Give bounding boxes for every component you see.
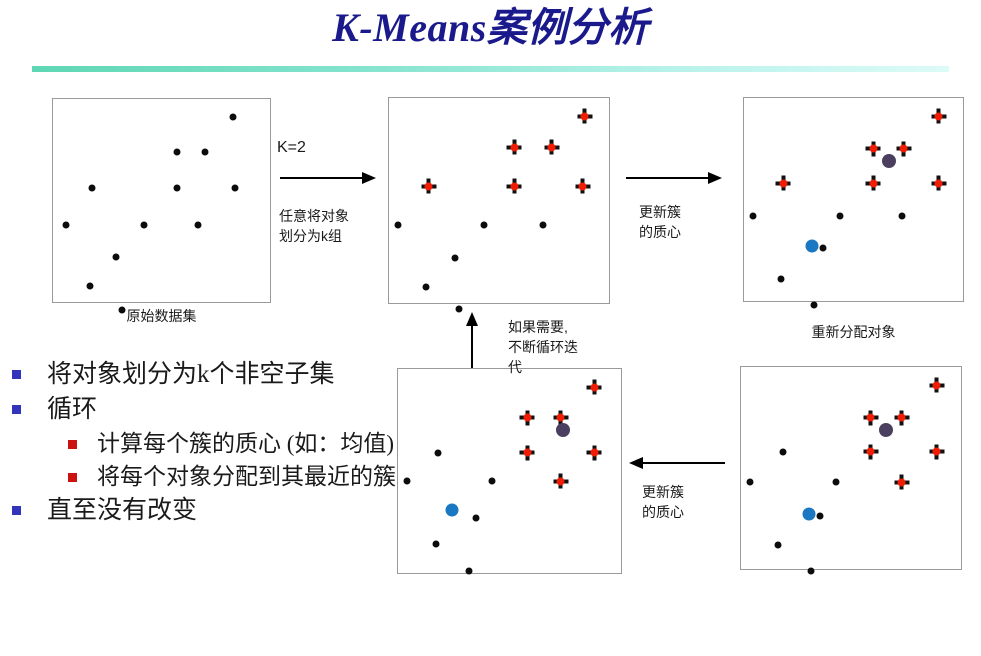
scatter-panel-update-centroids (743, 97, 964, 302)
cluster-cross-marker (929, 378, 944, 393)
arrow-right-step2 (626, 170, 722, 191)
cluster-cross-marker (421, 179, 436, 194)
page-title: K-Means案例分析 (0, 4, 981, 52)
data-point (89, 185, 96, 192)
cluster-cross-marker (507, 179, 522, 194)
cluster-cross-marker (896, 141, 911, 156)
data-point (480, 222, 487, 229)
cluster-cross-marker (587, 380, 602, 395)
data-point (423, 283, 430, 290)
data-point (432, 541, 439, 548)
data-point (452, 254, 459, 261)
bullet-item: 直至没有改变 (12, 494, 404, 527)
data-point (173, 185, 180, 192)
panel-3-caption: 重新分配对象 (743, 322, 964, 342)
bullet-text: 将对象划分为k个非空子集 (47, 358, 335, 391)
cluster-cross-marker (894, 410, 909, 425)
cluster-cross-marker (575, 179, 590, 194)
centroid-blue (803, 508, 816, 521)
step2-description: 更新簇 的质心 (639, 202, 739, 242)
data-point (749, 212, 756, 219)
title-divider (32, 66, 949, 72)
data-point (86, 282, 93, 289)
bullet-sub-item: 将每个对象分配到其最近的簇 (12, 461, 404, 492)
step3-description: 更新簇 的质心 (642, 482, 742, 522)
data-point (435, 449, 442, 456)
bullet-text: 将每个对象分配到其最近的簇 (97, 461, 396, 492)
bullet-square-icon (68, 473, 77, 482)
data-point (112, 254, 119, 261)
data-point (898, 212, 905, 219)
centroid-blue (805, 240, 818, 253)
data-point (473, 514, 480, 521)
cluster-cross-marker (929, 444, 944, 459)
data-point (201, 148, 208, 155)
data-point (808, 568, 815, 575)
cluster-cross-marker (507, 140, 522, 155)
data-point (232, 185, 239, 192)
data-point (540, 222, 547, 229)
data-point (456, 306, 463, 313)
k-value-label: K=2 (277, 138, 306, 158)
step1-description: 任意将对象 划分为k组 (279, 206, 389, 246)
scatter-panel-original (52, 98, 271, 303)
cluster-cross-marker (520, 410, 535, 425)
panel-1-caption: 原始数据集 (52, 306, 271, 326)
cluster-cross-marker (587, 445, 602, 460)
arrow-up-loop (464, 312, 480, 373)
bullet-square-icon (12, 405, 21, 414)
bullet-square-icon (12, 370, 21, 379)
data-point (63, 221, 70, 228)
data-point (837, 212, 844, 219)
bullet-square-icon (68, 440, 77, 449)
data-point (832, 479, 839, 486)
data-point (778, 275, 785, 282)
cluster-cross-marker (866, 141, 881, 156)
data-point (779, 448, 786, 455)
data-point (746, 479, 753, 486)
data-point (775, 541, 782, 548)
data-point (230, 114, 237, 121)
cluster-cross-marker (520, 445, 535, 460)
data-point (394, 222, 401, 229)
centroid-purple (879, 423, 893, 437)
bullet-item: 将对象划分为k个非空子集 (12, 358, 404, 391)
bullet-square-icon (12, 506, 21, 515)
data-point (488, 478, 495, 485)
bullet-sub-item: 计算每个簇的质心 (如：均值) (12, 428, 404, 459)
bullet-list: 将对象划分为k个非空子集 循环 计算每个簇的质心 (如：均值) 将每个对象分配到… (12, 358, 404, 529)
scatter-panel-reassign-objects (740, 366, 962, 570)
bullet-item: 循环 (12, 393, 404, 426)
cluster-cross-marker (553, 474, 568, 489)
scatter-panel-initial-partition (388, 97, 610, 304)
centroid-purple (556, 423, 570, 437)
bullet-text: 直至没有改变 (47, 494, 197, 527)
bullet-text: 循环 (47, 393, 97, 426)
cluster-cross-marker (577, 109, 592, 124)
cluster-cross-marker (863, 410, 878, 425)
arrow-left-step3 (629, 455, 725, 476)
data-point (195, 221, 202, 228)
cluster-cross-marker (931, 109, 946, 124)
data-point (817, 513, 824, 520)
data-point (819, 245, 826, 252)
cluster-cross-marker (544, 140, 559, 155)
data-point (141, 221, 148, 228)
cluster-cross-marker (776, 176, 791, 191)
cluster-cross-marker (866, 176, 881, 191)
loop-description: 如果需要, 不断循环迭 代 (508, 317, 618, 377)
arrow-right-step1 (280, 170, 376, 191)
centroid-purple (882, 154, 896, 168)
data-point (403, 478, 410, 485)
centroid-blue (445, 503, 458, 516)
data-point (466, 567, 473, 574)
data-point (173, 148, 180, 155)
bullet-text: 计算每个簇的质心 (如：均值) (97, 428, 394, 459)
cluster-cross-marker (894, 475, 909, 490)
data-point (811, 302, 818, 309)
cluster-cross-marker (931, 176, 946, 191)
scatter-panel-iterate (397, 368, 622, 574)
cluster-cross-marker (863, 444, 878, 459)
